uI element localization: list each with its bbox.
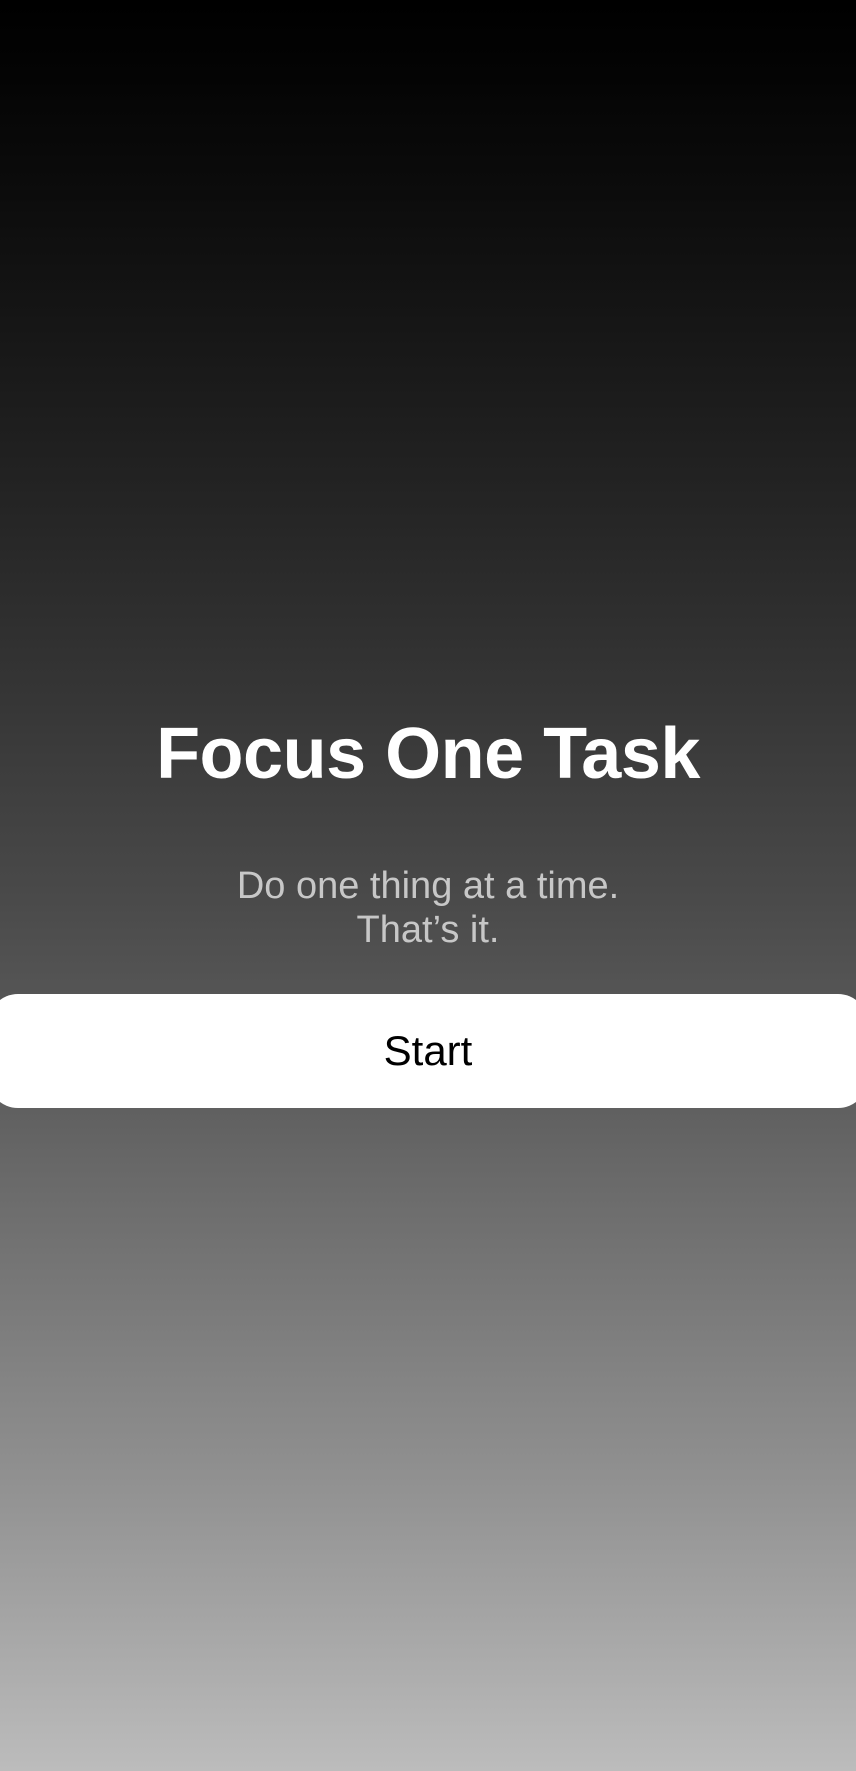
subtitle-line-1: Do one thing at a time. [0, 864, 856, 908]
subtitle: Do one thing at a time. That’s it. [0, 864, 856, 952]
subtitle-line-2: That’s it. [0, 908, 856, 952]
app-screen: Focus One Task Do one thing at a time. T… [0, 0, 856, 1771]
content-container: Focus One Task Do one thing at a time. T… [0, 0, 856, 1771]
page-title: Focus One Task [0, 714, 856, 794]
start-button[interactable]: Start [0, 994, 856, 1108]
